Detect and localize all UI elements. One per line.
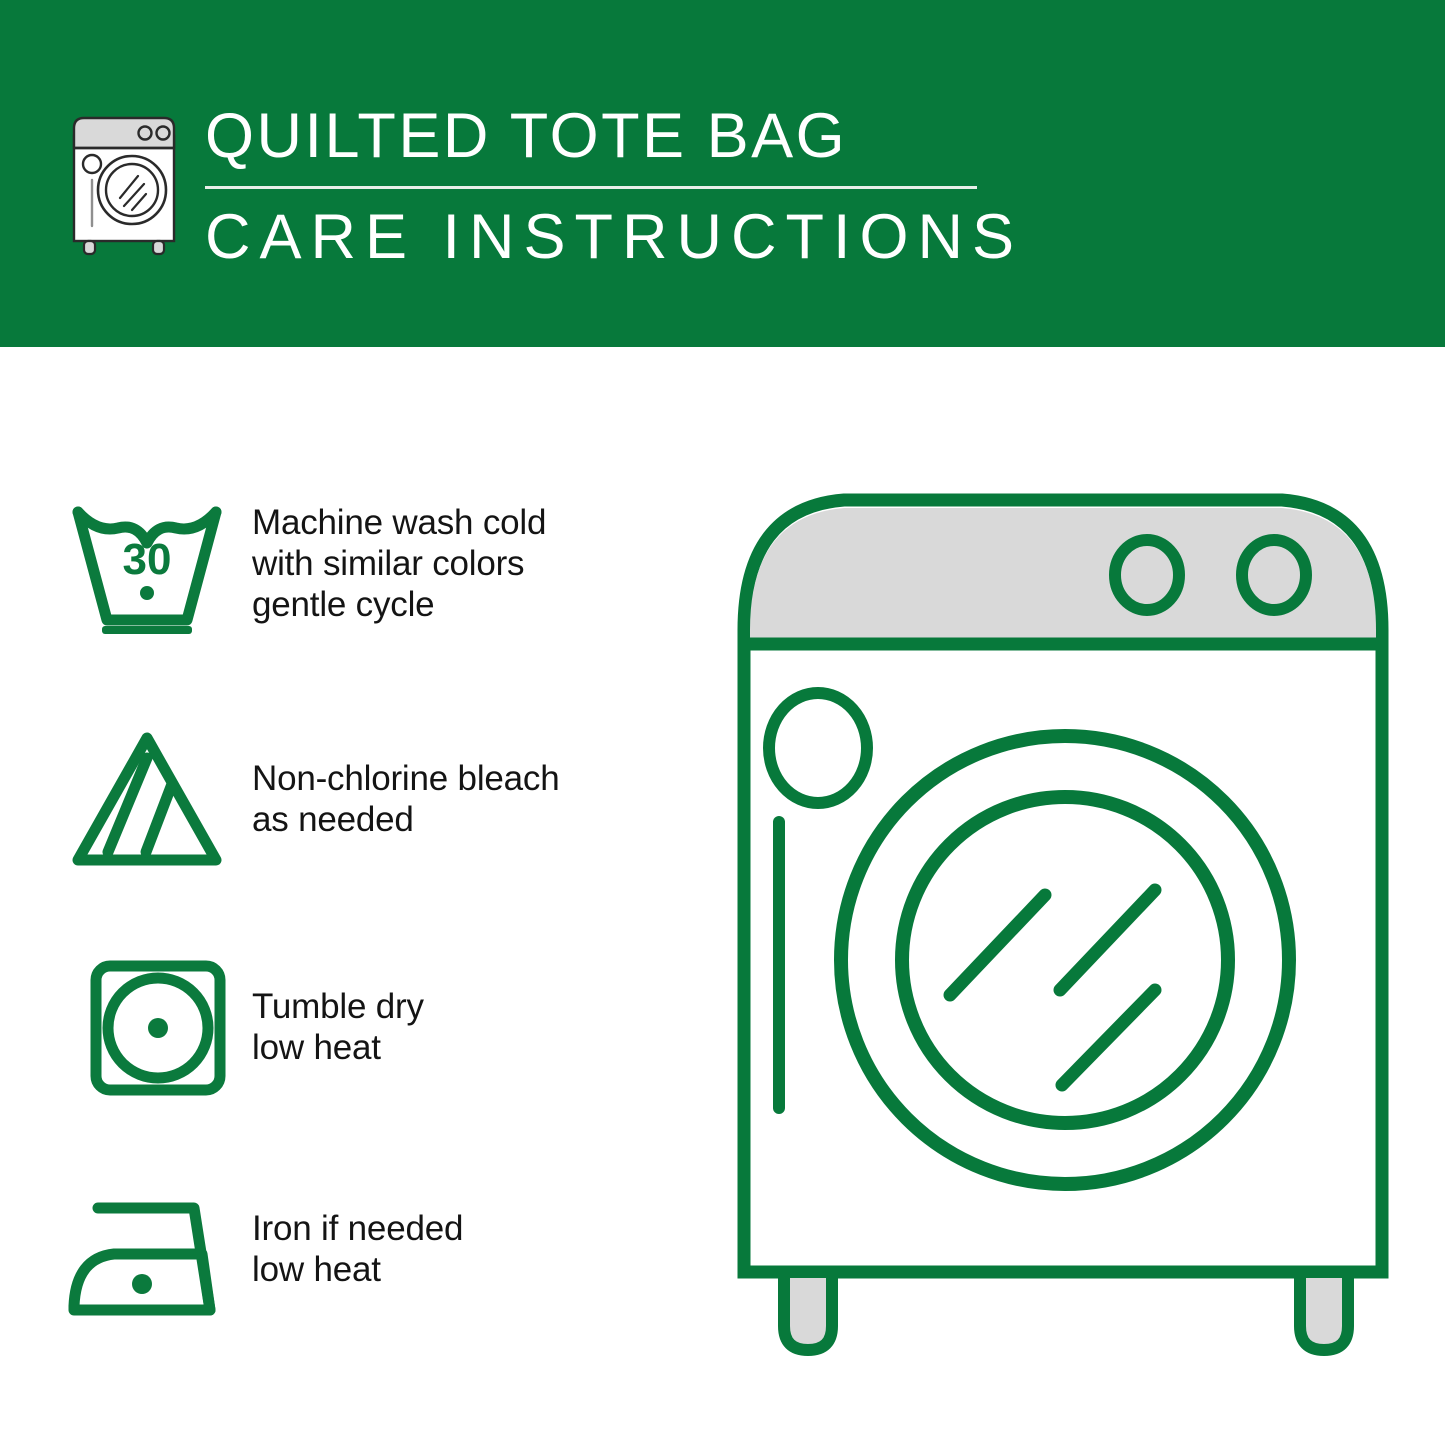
care-instructions-page: QUILTED TOTE BAG CARE INSTRUCTIONS 30 [0,0,1445,1445]
machine-leg-left [784,1272,832,1350]
page-subtitle: CARE INSTRUCTIONS [205,201,1305,273]
header-text-block: QUILTED TOTE BAG CARE INSTRUCTIONS [205,100,1305,273]
instruction-line: low heat [252,1249,702,1290]
non-chlorine-bleach-triangle-icon [62,710,252,885]
instruction-line: as needed [252,799,702,840]
instruction-line: Tumble dry [252,986,702,1027]
care-instruction-list: 30 Machine wash cold with similar colors… [62,480,702,1400]
washing-machine-icon [66,106,182,256]
instruction-line: low heat [252,1027,702,1068]
instruction-line: Non-chlorine bleach [252,758,702,799]
instruction-text-wash: Machine wash cold with similar colors ge… [252,480,702,625]
wash-temperature-label: 30 [123,535,172,584]
list-item-iron: Iron if needed low heat [62,1170,702,1400]
iron-low-heat-icon [62,1170,252,1345]
tumble-dry-low-icon [62,940,252,1115]
machine-leg-right [1300,1272,1348,1350]
header-divider [205,186,977,189]
wash-tub-30-gentle-icon: 30 [62,480,252,655]
washing-machine-illustration [722,470,1412,1370]
list-item-tumble-dry: Tumble dry low heat [62,940,702,1170]
instruction-text-iron: Iron if needed low heat [252,1170,702,1290]
instruction-text-bleach: Non-chlorine bleach as needed [252,710,702,840]
instruction-line: gentle cycle [252,584,702,625]
header-banner: QUILTED TOTE BAG CARE INSTRUCTIONS [0,0,1445,347]
instruction-line: Iron if needed [252,1208,702,1249]
instruction-line: Machine wash cold [252,502,702,543]
list-item-wash: 30 Machine wash cold with similar colors… [62,480,702,710]
machine-control-panel [750,508,1376,644]
instruction-line: with similar colors [252,543,702,584]
list-item-bleach: Non-chlorine bleach as needed [62,710,702,940]
instruction-text-tumble-dry: Tumble dry low heat [252,940,702,1068]
page-title: QUILTED TOTE BAG [205,100,1305,172]
